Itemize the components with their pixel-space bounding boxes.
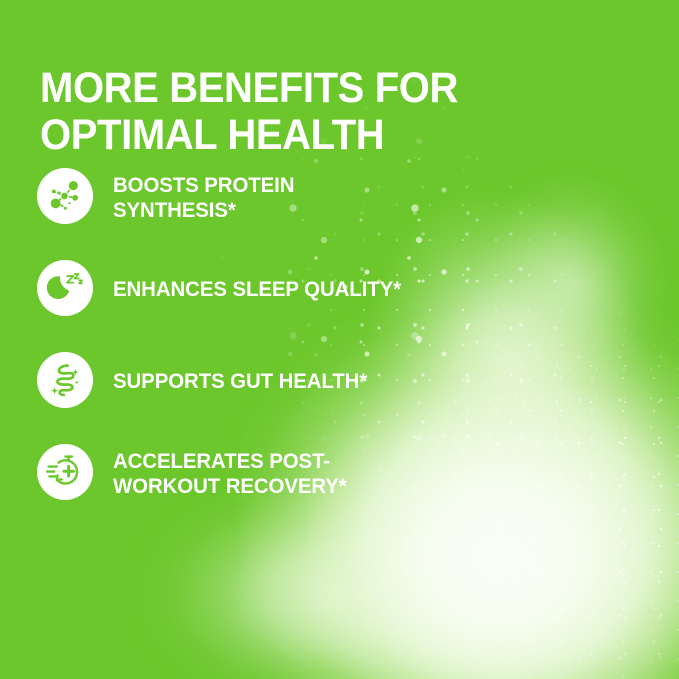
benefit-item-protein-synthesis: BOOSTS PROTEIN SYNTHESIS* xyxy=(37,168,637,260)
benefits-list: BOOSTS PROTEIN SYNTHESIS* ENHANCES SLEEP… xyxy=(37,168,637,536)
benefit-label: ENHANCES SLEEP QUALITY* xyxy=(113,277,512,302)
stopwatch-plus-icon xyxy=(37,444,93,500)
benefits-poster: MORE BENEFITS FOR OPTIMAL HEALTH xyxy=(0,0,679,679)
benefit-item-gut-health: SUPPORTS GUT HEALTH* xyxy=(37,352,637,444)
page-title: MORE BENEFITS FOR OPTIMAL HEALTH xyxy=(40,65,524,159)
molecule-icon xyxy=(37,168,93,224)
benefit-label: SUPPORTS GUT HEALTH* xyxy=(113,369,512,394)
benefit-label: BOOSTS PROTEIN SYNTHESIS* xyxy=(113,173,512,222)
benefit-item-sleep-quality: ENHANCES SLEEP QUALITY* xyxy=(37,260,637,352)
intestine-sparkle-icon xyxy=(37,352,93,408)
benefit-item-post-workout-recovery: ACCELERATES POST- WORKOUT RECOVERY* xyxy=(37,444,637,536)
moon-zzz-icon xyxy=(37,260,93,316)
benefit-label: ACCELERATES POST- WORKOUT RECOVERY* xyxy=(113,449,512,498)
